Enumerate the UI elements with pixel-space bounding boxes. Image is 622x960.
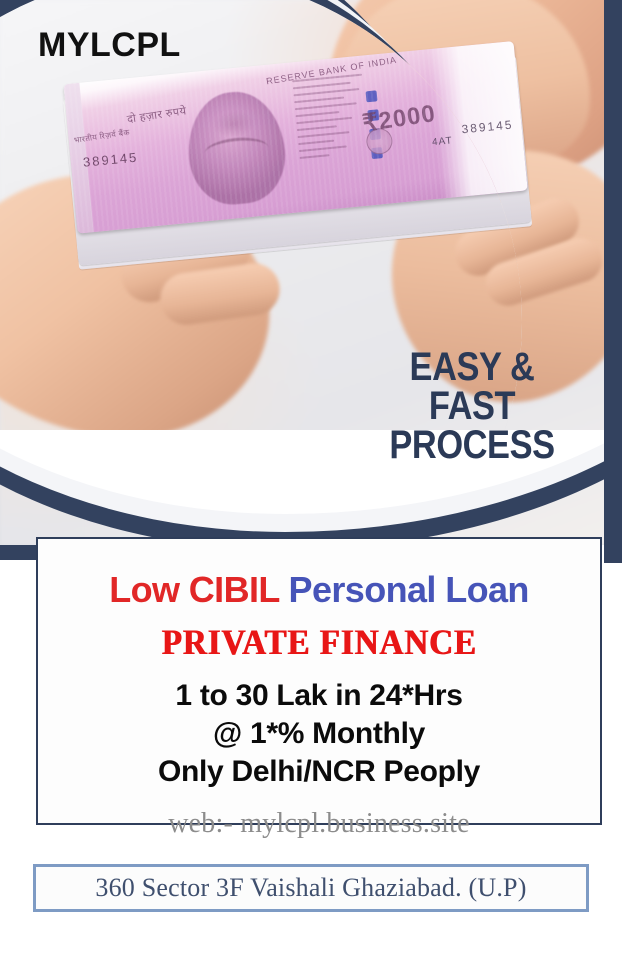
note-serial-right: 389145 (461, 117, 514, 136)
detail-line-3: Only Delhi/NCR Peoply (38, 755, 600, 789)
headline-red-part: Low CIBIL (109, 569, 288, 610)
address-box: 360 Sector 3F Vaishali Ghaziabad. (U.P) (33, 864, 589, 912)
subheadline: PRIVATE FINANCE (60, 621, 577, 663)
detail-line-1: 1 to 30 Lak in 24*Hrs (38, 679, 600, 713)
note-issuer-hi: भारतीय रिज़र्व बैंक (73, 127, 130, 146)
navy-right-rail (604, 0, 622, 563)
note-serial-left: 389145 (82, 150, 139, 170)
detail-line-2: @ 1*% Monthly (38, 717, 600, 751)
brand-logo-text: MYLCPL (38, 26, 181, 65)
headline: Low CIBIL Personal Loan (38, 569, 600, 611)
rbi-seal-icon (365, 127, 393, 155)
tagline-line-2: PROCESS (369, 426, 575, 465)
note-denomination-hi: दो हज़ार रुपये (126, 103, 187, 127)
note-serial-prefix: 4AT (432, 135, 454, 148)
headline-blue-part: Personal Loan (289, 569, 529, 610)
website-link[interactable]: web:- mylcpl.business.site (36, 808, 602, 840)
tagline-block: EASY & FAST PROCESS (369, 348, 575, 466)
address-text: 360 Sector 3F Vaishali Ghaziabad. (U.P) (95, 873, 526, 903)
note-denomination: ₹2000 (361, 99, 438, 139)
loan-advertisement-poster: RESERVE BANK OF INDIA दो हज़ार रुपये भार… (0, 0, 622, 960)
offer-card: Low CIBIL Personal Loan PRIVATE FINANCE … (36, 537, 602, 825)
gandhi-portrait-icon (183, 88, 289, 209)
tagline-line-1: EASY & FAST (369, 348, 575, 426)
